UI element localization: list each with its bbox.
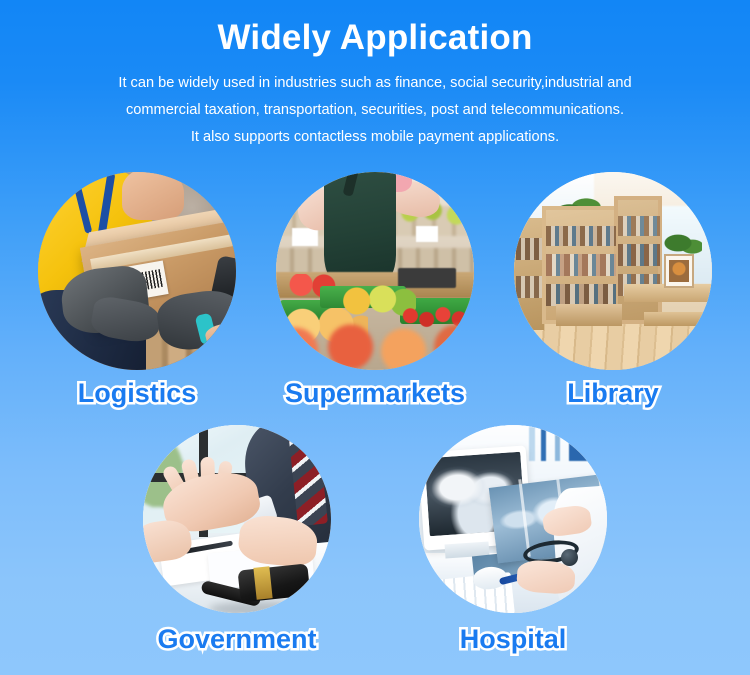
application-card-government[interactable]: Government xyxy=(143,425,331,655)
logistics-scene-icon xyxy=(38,172,236,370)
application-card-library[interactable]: Library xyxy=(514,172,712,409)
application-label-supermarkets: Supermarkets xyxy=(285,378,465,409)
application-label-logistics: Logistics xyxy=(78,378,197,409)
application-card-logistics[interactable]: Logistics xyxy=(38,172,236,409)
library-scene-icon xyxy=(514,172,712,370)
application-row-bottom: Government xyxy=(0,425,750,655)
subtitle-line-1: It can be widely used in industries such… xyxy=(0,70,750,97)
application-label-library: Library xyxy=(567,378,659,409)
logistics-image-circle[interactable] xyxy=(38,172,236,370)
subtitle-line-2: commercial taxation, transportation, sec… xyxy=(0,97,750,124)
application-card-hospital[interactable]: Hospital xyxy=(419,425,607,655)
subtitle-line-3: It also supports contactless mobile paym… xyxy=(0,124,750,151)
supermarkets-image-circle[interactable] xyxy=(276,172,474,370)
application-label-government: Government xyxy=(157,624,316,655)
page-title: Widely Application xyxy=(0,19,750,58)
library-image-circle[interactable] xyxy=(514,172,712,370)
application-label-hospital: Hospital xyxy=(460,624,567,655)
widely-application-banner: Widely Application It can be widely used… xyxy=(0,0,750,675)
page-subtitle: It can be widely used in industries such… xyxy=(0,70,750,151)
supermarket-scene-icon xyxy=(276,172,474,370)
government-scene-icon xyxy=(143,425,331,613)
application-card-supermarkets[interactable]: Supermarkets xyxy=(276,172,474,409)
government-image-circle[interactable] xyxy=(143,425,331,613)
hospital-scene-icon xyxy=(419,425,607,613)
hospital-image-circle[interactable] xyxy=(419,425,607,613)
banner-header: Widely Application It can be widely used… xyxy=(0,0,750,151)
application-row-top: Logistics xyxy=(0,172,750,409)
